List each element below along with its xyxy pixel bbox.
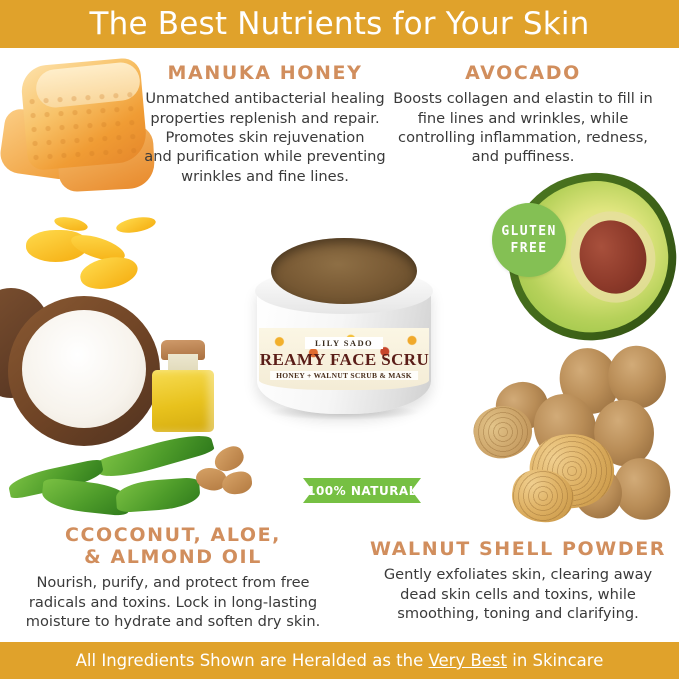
product-jar-image: LILY SADO CREAMY FACE SCRUB HONEY + WALN… bbox=[253, 228, 435, 418]
ingredient-body-manuka-honey: Unmatched antibacterial healing properti… bbox=[140, 89, 390, 186]
footer-bar: All Ingredients Shown are Heralded as th… bbox=[0, 642, 679, 679]
product-infographic: The Best Nutrients for Your Skin bbox=[0, 0, 679, 679]
honeycomb-cells bbox=[26, 88, 143, 166]
footer-text-underlined: Very Best bbox=[429, 651, 508, 670]
ingredient-heading-manuka-honey: MANUKA HONEY bbox=[140, 62, 390, 84]
ingredient-heading-coconut-aloe-almond-oil: CCOCONUT, ALOE, & ALMOND OIL bbox=[8, 524, 338, 568]
oil-bottle-body bbox=[152, 370, 214, 432]
ingredient-body-avocado: Boosts collagen and elastin to fill in f… bbox=[383, 89, 663, 167]
jar-product-name: CREAMY FACE SCRUB bbox=[259, 350, 429, 370]
honeycomb-image bbox=[2, 56, 162, 206]
coconut-flesh bbox=[22, 310, 146, 428]
ingredient-body-coconut-aloe-almond-oil: Nourish, purify, and protect from free r… bbox=[8, 573, 338, 631]
ingredient-block-avocado: AVOCADO Boosts collagen and elastin to f… bbox=[383, 62, 663, 167]
walnut-image bbox=[468, 346, 679, 536]
natural-ribbon-badge: 100% NATURAL bbox=[303, 478, 421, 503]
jar-label: LILY SADO CREAMY FACE SCRUB HONEY + WALN… bbox=[259, 328, 429, 390]
footer-text-after: in Skincare bbox=[507, 651, 603, 670]
honey-drop-small-right bbox=[115, 215, 157, 236]
jar-brand-name: LILY SADO bbox=[305, 337, 383, 349]
gluten-free-badge: GLUTEN FREE bbox=[492, 203, 566, 277]
page-title: The Best Nutrients for Your Skin bbox=[89, 6, 589, 42]
footer-tagline: All Ingredients Shown are Heralded as th… bbox=[76, 651, 604, 670]
ingredient-heading-avocado: AVOCADO bbox=[383, 62, 663, 84]
ingredient-block-walnut-shell-powder: WALNUT SHELL POWDER Gently exfoliates sk… bbox=[368, 538, 668, 623]
ingredient-heading-walnut-shell-powder: WALNUT SHELL POWDER bbox=[368, 538, 668, 560]
natural-badge-label: 100% NATURAL bbox=[307, 484, 417, 498]
header-bar: The Best Nutrients for Your Skin bbox=[0, 0, 679, 48]
gluten-free-line-2: FREE bbox=[511, 240, 548, 257]
ingredient-body-walnut-shell-powder: Gently exfoliates skin, clearing away de… bbox=[368, 565, 668, 623]
almond-three bbox=[221, 470, 254, 496]
coconut-aloe-almond-image bbox=[0, 282, 262, 522]
aloe-leaf-right bbox=[115, 477, 201, 513]
coconut-half-front bbox=[8, 296, 160, 446]
ingredient-block-coconut-aloe-almond-oil: CCOCONUT, ALOE, & ALMOND OIL Nourish, pu… bbox=[8, 524, 338, 632]
footer-text-before: All Ingredients Shown are Heralded as th… bbox=[76, 651, 429, 670]
gluten-free-line-1: GLUTEN bbox=[501, 223, 556, 240]
jar-product-subtitle: HONEY + WALNUT SCRUB & MASK bbox=[270, 371, 418, 380]
jar-scrub-contents bbox=[267, 230, 421, 300]
ingredient-block-manuka-honey: MANUKA HONEY Unmatched antibacterial hea… bbox=[140, 62, 390, 186]
